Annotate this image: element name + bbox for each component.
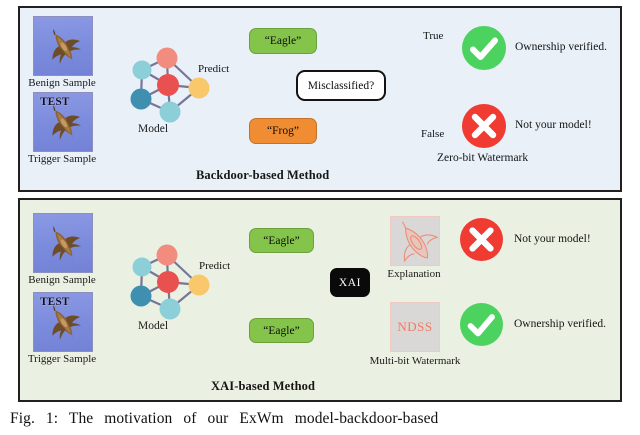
trigger-tag-top: TEST — [40, 96, 69, 108]
trigger-sample-image-top: TEST — [33, 92, 93, 152]
misclassified-decision-box: Misclassified? — [296, 70, 386, 101]
cross-icon — [462, 104, 506, 148]
verdict-message-notyours-top: Not your model! — [515, 119, 592, 131]
multibit-watermark-caption: Multi-bit Watermark — [360, 355, 470, 367]
verdict-check-top — [462, 26, 506, 70]
eagle-illustration — [39, 221, 88, 265]
explanation-caption: Explanation — [378, 268, 450, 280]
trigger-sample-image-bottom: TEST — [33, 292, 93, 352]
xai-module-box: XAI — [330, 268, 370, 297]
check-icon — [462, 26, 506, 70]
check-icon — [460, 303, 503, 346]
predict-label-top: Predict — [198, 63, 229, 75]
ndss-watermark-text: NDSS — [391, 303, 439, 351]
predict-label-bottom: Predict — [199, 260, 230, 272]
prediction-chip-frog-top: “Frog” — [249, 118, 317, 144]
panel-xai-method — [18, 198, 622, 402]
prediction-chip-eagle-trigger-bottom: “Eagle” — [249, 318, 314, 343]
multibit-watermark-thumbnail: NDSS — [390, 302, 440, 352]
trigger-tag-bottom: TEST — [40, 296, 69, 308]
trigger-sample-label-top: Trigger Sample — [14, 153, 110, 165]
saliency-map-icon — [391, 217, 439, 265]
panel-title-backdoor: Backdoor-based Method — [196, 168, 329, 183]
edge-label-false: False — [421, 128, 444, 140]
verdict-message-ownership-top: Ownership verified. — [515, 41, 607, 53]
explanation-thumbnail — [390, 216, 440, 266]
verdict-message-ownership-bottom: Ownership verified. — [514, 318, 606, 330]
figure-caption: Fig. 1: The motivation of our ExWm model… — [10, 409, 632, 435]
verdict-check-bottom — [460, 303, 503, 346]
benign-sample-image-bottom — [33, 213, 93, 273]
panel-title-xai: XAI-based Method — [211, 379, 315, 394]
edge-label-true: True — [423, 30, 443, 42]
trigger-sample-label-bottom: Trigger Sample — [14, 353, 110, 365]
model-label-bottom: Model — [138, 320, 168, 332]
model-network-top — [122, 44, 220, 126]
model-label-top: Model — [138, 123, 168, 135]
benign-sample-label-top: Benign Sample — [14, 77, 110, 89]
verdict-cross-bottom — [460, 218, 503, 261]
prediction-chip-eagle-top: “Eagle” — [249, 28, 317, 54]
benign-sample-image-top — [33, 16, 93, 76]
benign-sample-label-bottom: Benign Sample — [14, 274, 110, 286]
model-network-bottom — [122, 241, 220, 323]
verdict-cross-top — [462, 104, 506, 148]
cross-icon — [460, 218, 503, 261]
figure-root: Benign Sample TEST Trigger Sample — [0, 0, 640, 435]
zero-bit-watermark-footnote: Zero-bit Watermark — [437, 152, 528, 164]
prediction-chip-eagle-benign-bottom: “Eagle” — [249, 228, 314, 253]
verdict-message-notyours-bottom: Not your model! — [514, 233, 591, 245]
eagle-illustration — [39, 24, 88, 68]
